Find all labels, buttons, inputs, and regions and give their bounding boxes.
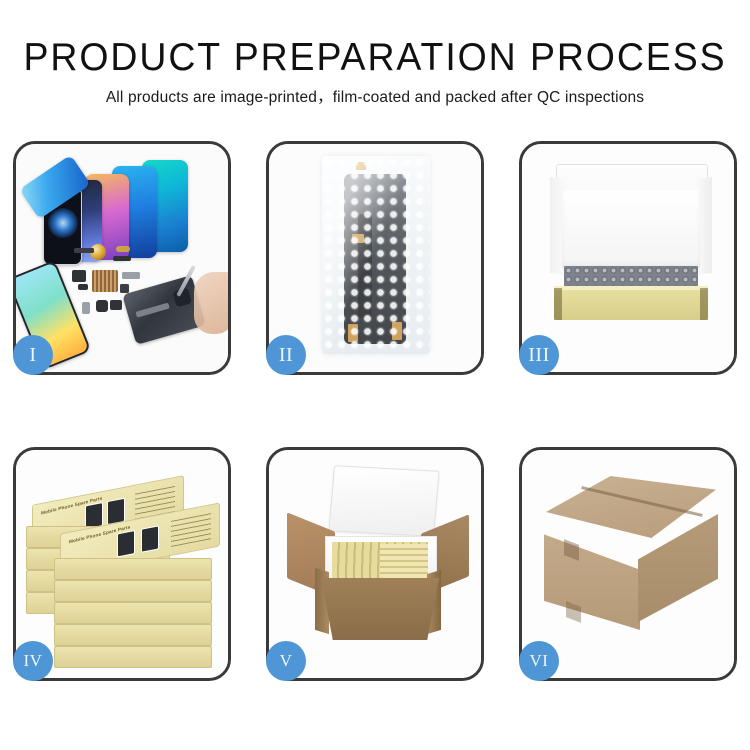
styrofoam-lid (328, 465, 439, 537)
step-badge-3: III (519, 335, 559, 375)
box-window-front-1 (117, 530, 135, 557)
white-foam-sheet (562, 190, 700, 268)
connector-mesh-part (92, 270, 118, 292)
small-part-sim-tray (82, 302, 90, 314)
step-2-image (269, 144, 481, 372)
step-3-image (522, 144, 734, 372)
product-preparation-infographic: PRODUCT PREPARATION PROCESS All products… (0, 0, 750, 750)
page-subtitle: All products are image-printed，film-coat… (0, 88, 750, 108)
small-part-shield (122, 272, 140, 279)
step-badge-4: IV (13, 641, 53, 681)
small-part-buzzer (110, 300, 122, 310)
small-part-speaker (96, 300, 108, 312)
header: PRODUCT PREPARATION PROCESS All products… (0, 36, 750, 108)
sealed-carton (540, 476, 722, 642)
step-6-image (522, 450, 734, 678)
carton-front-face (544, 526, 640, 630)
step-panel-1: I (13, 141, 231, 375)
box-body-front-1 (54, 558, 212, 580)
tray-corner-right (700, 288, 708, 320)
process-steps-grid: I II (13, 141, 737, 681)
step-5-image (269, 450, 481, 678)
small-part-gold (116, 246, 130, 252)
step-panel-6: VI (519, 447, 737, 681)
box-body-front-5 (54, 646, 212, 668)
box-spec-lines-front (171, 511, 211, 547)
bubble-wrap-bag (322, 156, 430, 354)
carton-top-face (546, 476, 716, 538)
small-part-flex (113, 256, 131, 261)
small-part-clip (78, 284, 88, 290)
small-part-chip (74, 248, 94, 253)
step-1-image (16, 144, 228, 372)
battery-strip (135, 303, 169, 318)
open-shipping-carton (285, 466, 471, 652)
page-title: PRODUCT PREPARATION PROCESS (15, 36, 735, 80)
plastic-sheen (322, 156, 430, 354)
box-window-front-2 (141, 525, 159, 552)
box-body-front-2 (54, 580, 212, 602)
hand (194, 272, 228, 334)
packed-boxes-row-2 (380, 544, 428, 578)
step-panel-5: V (266, 447, 484, 681)
stacked-boxes: Mobile Phone Spare Parts Mobile Phone Sp… (24, 468, 224, 658)
step-badge-2: II (266, 335, 306, 375)
box-body-front-4 (54, 624, 212, 646)
open-inner-box (544, 162, 718, 334)
tray-corner-left (554, 288, 562, 320)
carton-body (321, 578, 439, 640)
step-badge-5: V (266, 641, 306, 681)
step-panel-2: II (266, 141, 484, 375)
box-body-front-3 (54, 602, 212, 624)
step-panel-3: III (519, 141, 737, 375)
step-badge-1: I (13, 335, 53, 375)
yellow-box-tray (554, 290, 708, 320)
phones-and-parts-illustration (16, 144, 228, 372)
small-part-bracket (72, 270, 86, 282)
step-4-image: Mobile Phone Spare Parts Mobile Phone Sp… (16, 450, 228, 678)
step-panel-4: Mobile Phone Spare Parts Mobile Phone Sp… (13, 447, 231, 681)
small-part-square (120, 284, 129, 293)
step-badge-6: VI (519, 641, 559, 681)
